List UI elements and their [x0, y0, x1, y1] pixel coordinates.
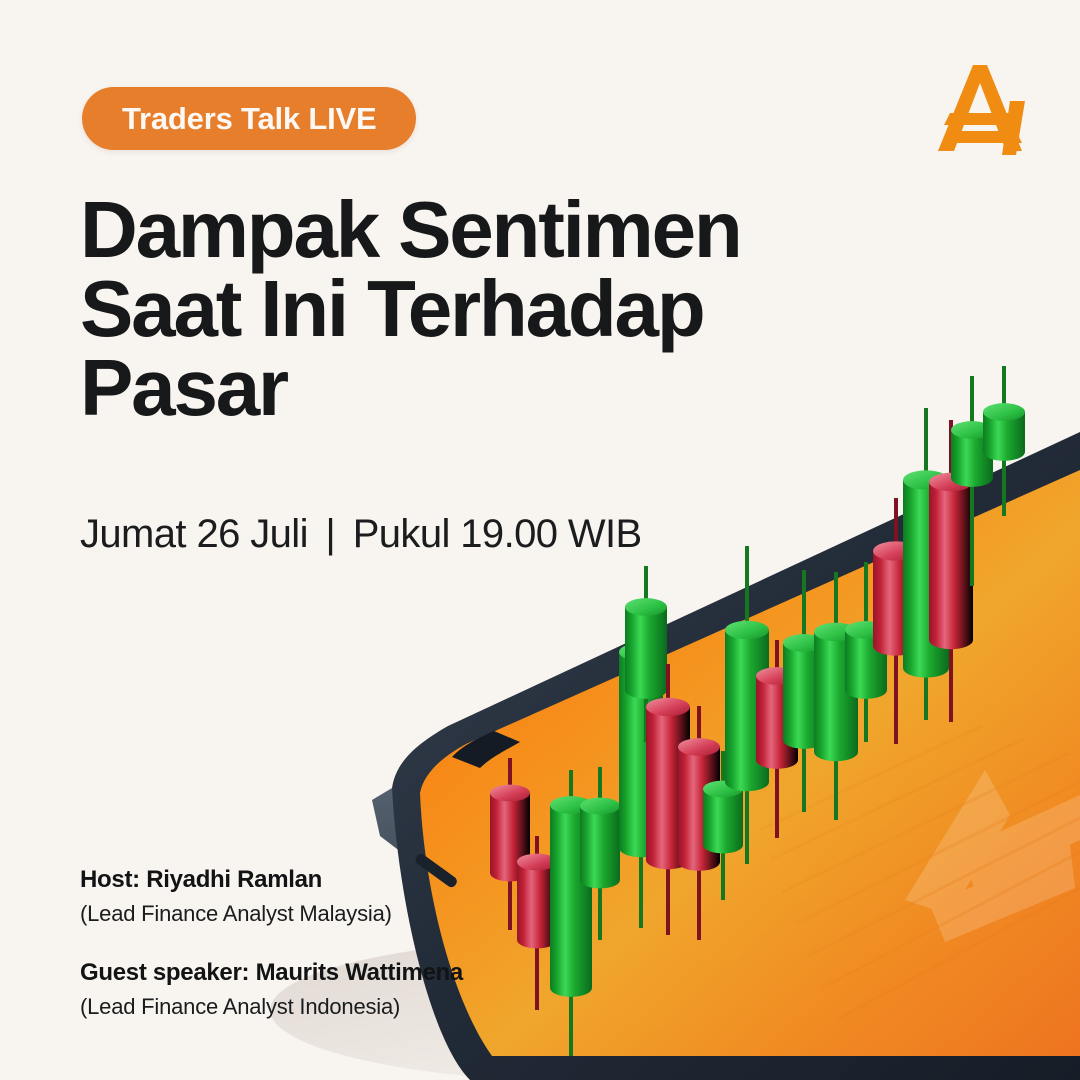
candle-body	[703, 789, 743, 853]
promo-poster: Traders Talk LIVE Dampak Sentimen Saat I…	[0, 0, 1080, 1080]
logo-a-currency-icon	[926, 55, 1034, 163]
headline-line-3: Pasar	[80, 348, 840, 427]
host-name: Host: Riyadhi Ramlan	[80, 866, 463, 894]
candle-cap	[678, 738, 720, 756]
candle-cap	[490, 785, 530, 802]
candle-cap	[580, 798, 620, 815]
host-role: (Lead Finance Analyst Malaysia)	[80, 901, 463, 927]
page-title: Dampak Sentimen Saat Ini Terhadap Pasar	[80, 190, 840, 428]
candle-body	[580, 806, 620, 888]
credit-guest: Guest speaker: Maurits Wattimena (Lead F…	[80, 959, 463, 1020]
event-schedule: Jumat 26 Juli | Pukul 19.00 WIB	[80, 512, 642, 557]
headline-line-2: Saat Ini Terhadap	[80, 269, 840, 348]
credit-host: Host: Riyadhi Ramlan (Lead Finance Analy…	[80, 866, 463, 927]
candle-cap	[625, 598, 667, 616]
live-badge[interactable]: Traders Talk LIVE	[82, 87, 416, 150]
headline-line-1: Dampak Sentimen	[80, 190, 840, 269]
guest-name: Guest speaker: Maurits Wattimena	[80, 959, 463, 987]
schedule-separator: |	[318, 512, 342, 556]
candle-cap	[983, 403, 1025, 421]
event-date: Jumat 26 Juli	[80, 512, 308, 556]
guest-role: (Lead Finance Analyst Indonesia)	[80, 994, 463, 1020]
live-badge-label: Traders Talk LIVE	[122, 101, 376, 137]
candle-cap	[725, 621, 769, 639]
candle-body	[929, 482, 973, 649]
event-time: Pukul 19.00 WIB	[353, 512, 642, 556]
candle-cap	[646, 698, 690, 716]
candle-body	[625, 607, 667, 699]
speaker-credits: Host: Riyadhi Ramlan (Lead Finance Analy…	[80, 866, 463, 1052]
